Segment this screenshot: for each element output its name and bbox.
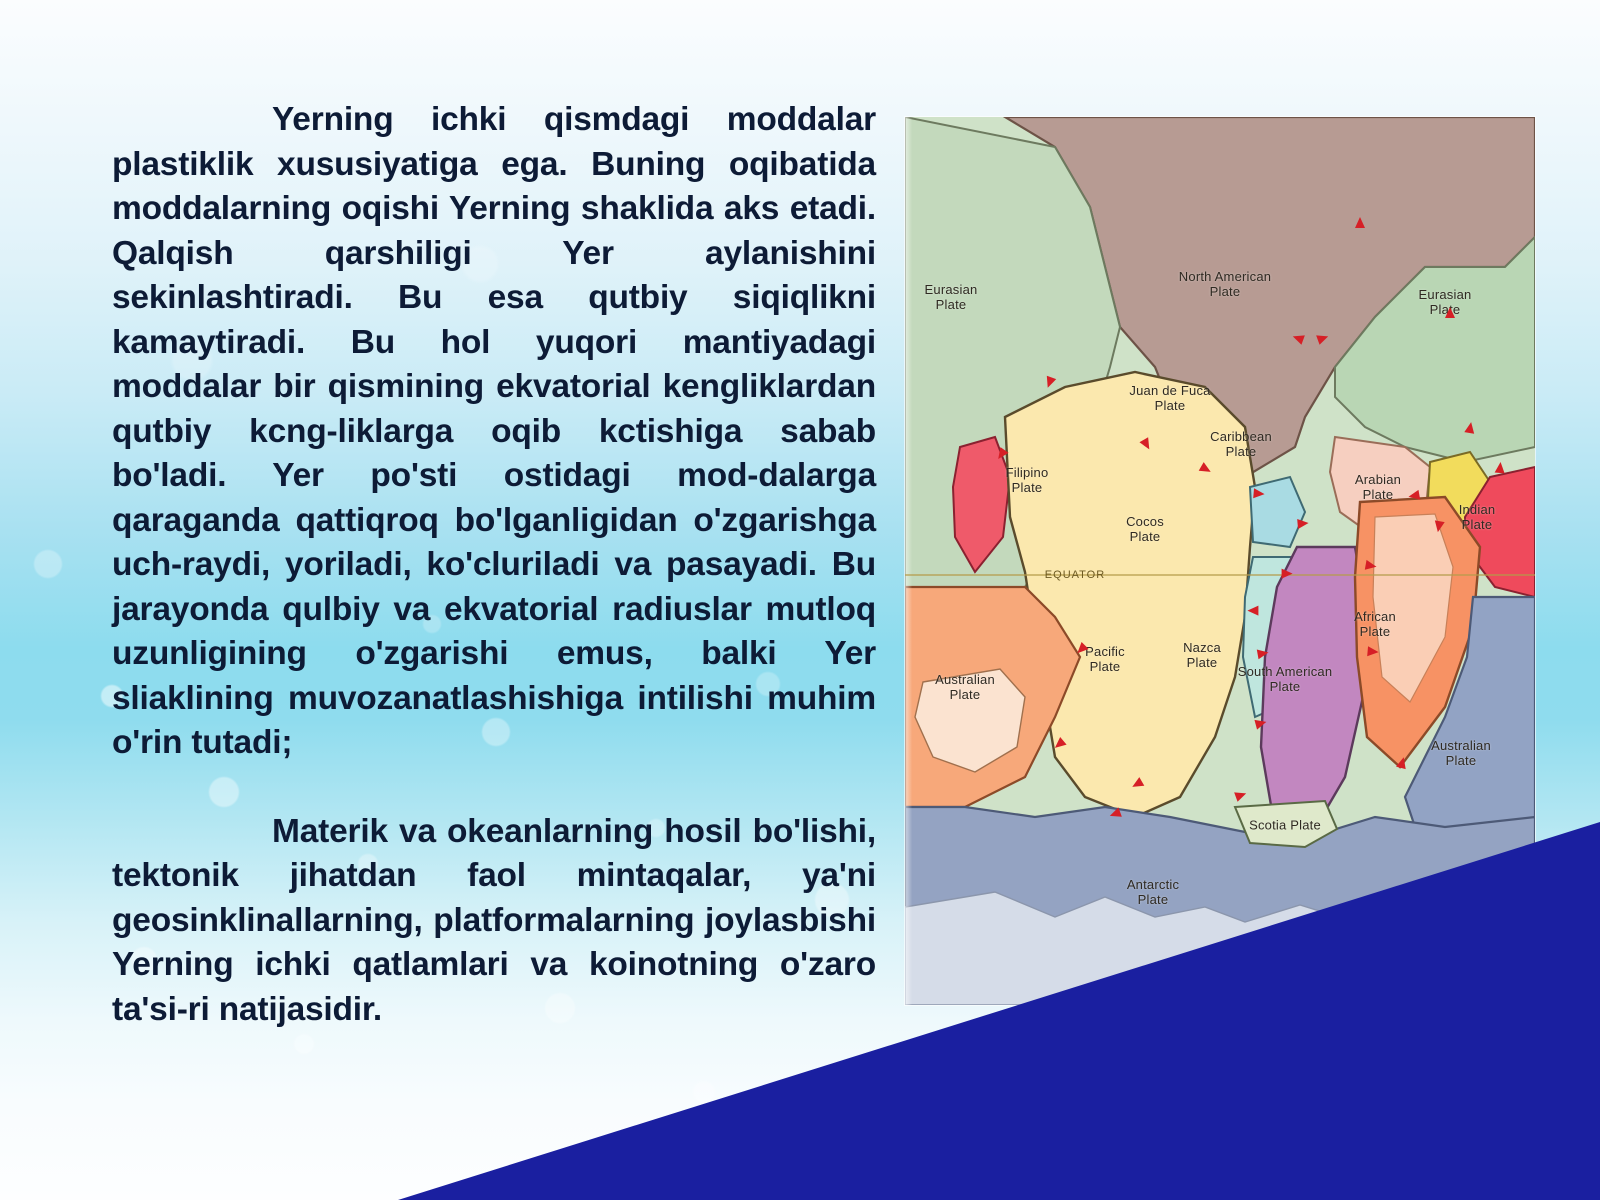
plate-motion-arrow-icon	[1355, 217, 1365, 228]
plate-motion-arrow-icon	[1495, 462, 1506, 474]
map-vector-canvas	[905, 117, 1535, 1005]
plate-motion-arrow-icon	[1464, 421, 1476, 434]
plate-motion-arrow-icon	[1257, 648, 1270, 660]
plate-motion-arrow-icon	[1297, 518, 1309, 529]
slide-body-text: Yerning ichki qismdagi moddalar plastikl…	[112, 98, 876, 1032]
paragraph-one: Yerning ichki qismdagi moddalar plastikl…	[112, 98, 876, 766]
plate-motion-arrow-icon	[1282, 569, 1293, 579]
equator-label: EQUATOR	[1045, 569, 1105, 581]
plate-motion-arrow-icon	[1445, 307, 1455, 318]
tectonic-plates-map-image: EQUATOR Eurasian Plate North American Pl…	[905, 117, 1535, 1005]
plate-motion-arrow-icon	[1247, 606, 1258, 616]
plate-motion-arrow-icon	[1365, 560, 1378, 572]
presentation-slide: Yerning ichki qismdagi moddalar plastikl…	[0, 0, 1600, 1200]
plate-motion-arrow-icon	[1253, 488, 1265, 499]
plate-motion-arrow-icon	[1367, 646, 1379, 657]
plate-motion-arrow-icon	[1433, 520, 1445, 533]
paragraph-two: Materik va okeanlarning hosil bo'lishi, …	[112, 810, 876, 1033]
plate-motion-arrow-icon	[1408, 490, 1421, 502]
